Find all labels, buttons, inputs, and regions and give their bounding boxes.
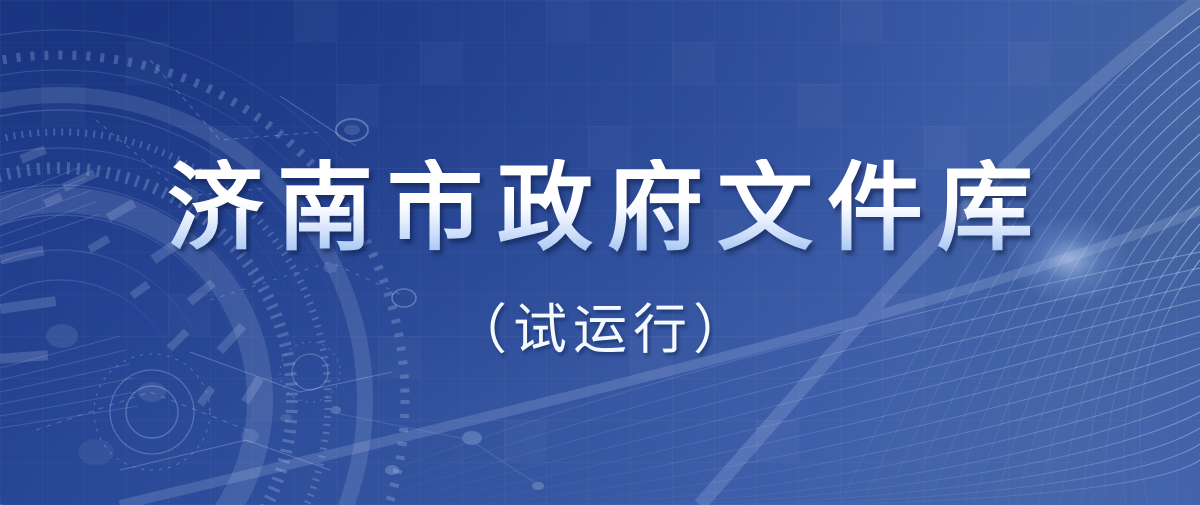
- page-subtitle: （试运行）: [447, 285, 753, 364]
- page-title: 济南市政府文件库: [153, 159, 1047, 260]
- site-banner: 济南市政府文件库 （试运行）: [0, 0, 1200, 505]
- banner-content: 济南市政府文件库 （试运行）: [0, 0, 1200, 505]
